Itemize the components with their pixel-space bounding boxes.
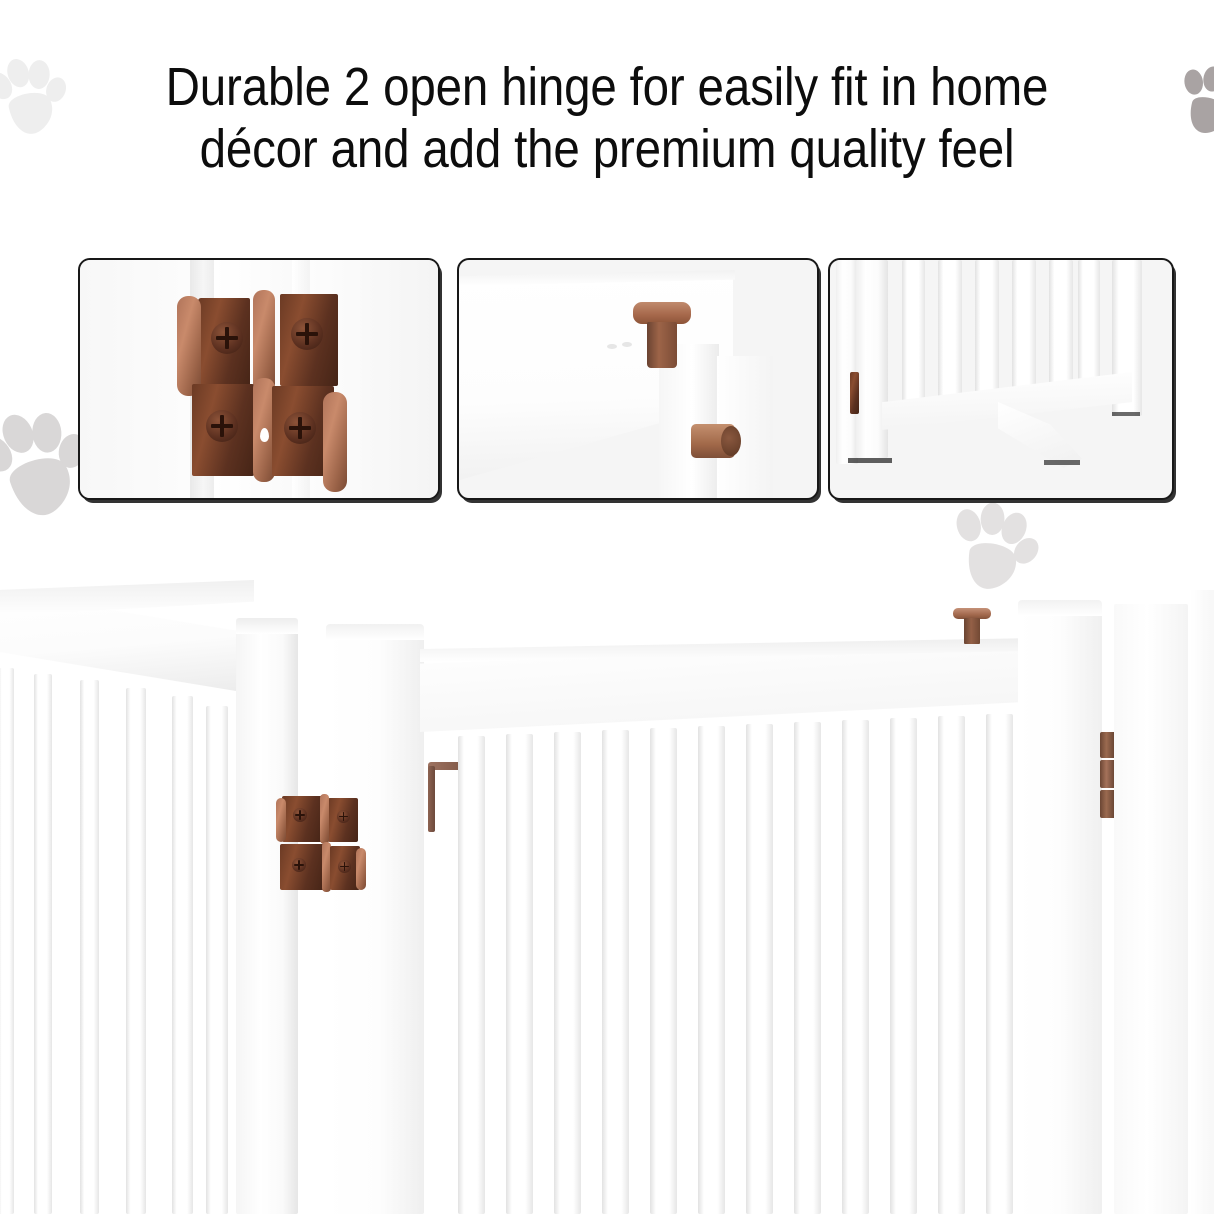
left-panel-slat-4 [126,688,146,1214]
base-slat-4 [1012,260,1036,393]
hinge-left-screw-3 [292,858,306,872]
hinge-screw-1 [211,322,243,354]
pin-head-top [633,302,691,324]
pin-closeup-scene [459,260,817,498]
detail-panel-base-closeup [828,258,1174,500]
center-corner-post [326,630,424,1214]
rail-dimple-2 [622,342,632,347]
hinge-right-knuckle-lower [356,848,366,890]
hinge-left-screw-1 [293,808,307,822]
center-panel-slat-12 [986,714,1013,1214]
hinge-left-joint [280,792,364,892]
left-panel-slat-5 [172,696,193,1214]
hinge-knuckle-left [177,296,201,396]
center-corner-post-cap [326,624,424,640]
center-panel-slat-4 [602,730,629,1214]
center-panel-slat-2 [506,734,533,1214]
center-panel-slat-8 [794,722,821,1214]
base-slat-1 [902,260,925,406]
left-panel-slat-2 [34,674,52,1214]
base-left-post-a [836,260,858,464]
far-right-panel [1190,590,1214,1214]
base-slat-3 [975,260,999,398]
left-panel-rail-top-bevel [0,580,254,616]
base-slat-5 [1049,260,1073,388]
center-panel-slat-10 [890,718,917,1214]
hinge-screw-2 [291,318,323,350]
pin-top-rail-shaft [964,618,980,644]
left-panel-slat-3 [80,680,99,1214]
hinge-gap-highlight [260,428,269,442]
pin-shaft-top [647,322,677,368]
hinge-closeup-scene [80,260,438,498]
left-panel-slat-1 [0,668,14,1214]
right-post-front-cap [1018,600,1102,616]
hinge-left-knuckle-upper [276,798,286,842]
base-foot-shadow-mid [1044,460,1080,465]
hero-product-photo [0,560,1214,1214]
right-post-front [1018,606,1102,1214]
hinge-screw-3 [206,410,238,442]
left-panel-slat-6 [206,706,228,1214]
headline-line-2: décor and add the premium quality feel [73,118,1141,180]
headline-line-1: Durable 2 open hinge for easily fit in h… [73,56,1141,118]
center-panel-slat-11 [938,716,965,1214]
center-panel-slat-7 [746,724,773,1214]
center-panel-slat-6 [698,726,725,1214]
left-corner-post-cap [236,618,298,634]
base-foot-shadow-right [1112,412,1140,416]
hinge-mid-knuckle-upper [320,794,329,844]
hinge-knuckle-right [323,392,347,492]
center-panel-slat-9 [842,720,869,1214]
left-corner-post [236,624,298,1214]
headline: Durable 2 open hinge for easily fit in h… [0,56,1214,180]
latch-bracket-post [428,766,435,832]
pin-side-face [721,426,741,456]
base-hinge-strip [850,372,859,414]
base-slat-6 [1078,260,1100,382]
hinge-left-screw-2 [337,810,350,823]
product-feature-image: Durable 2 open hinge for easily fit in h… [0,0,1214,1214]
right-post-back [1114,604,1188,1214]
rail-dimple-1 [607,344,617,349]
center-panel-slat-5 [650,728,677,1214]
detail-panel-hinge-closeup [78,258,440,500]
pin-top-rail [953,608,993,648]
detail-panel-pin-closeup [457,258,819,500]
base-slat-2 [938,260,962,402]
hinge-left-screw-4 [338,860,351,873]
hinge-screw-4 [284,412,316,444]
center-panel-slat-1 [458,736,485,1214]
base-closeup-scene [830,260,1172,498]
center-panel-slat-3 [554,732,581,1214]
base-foot-shadow-left [848,458,892,463]
